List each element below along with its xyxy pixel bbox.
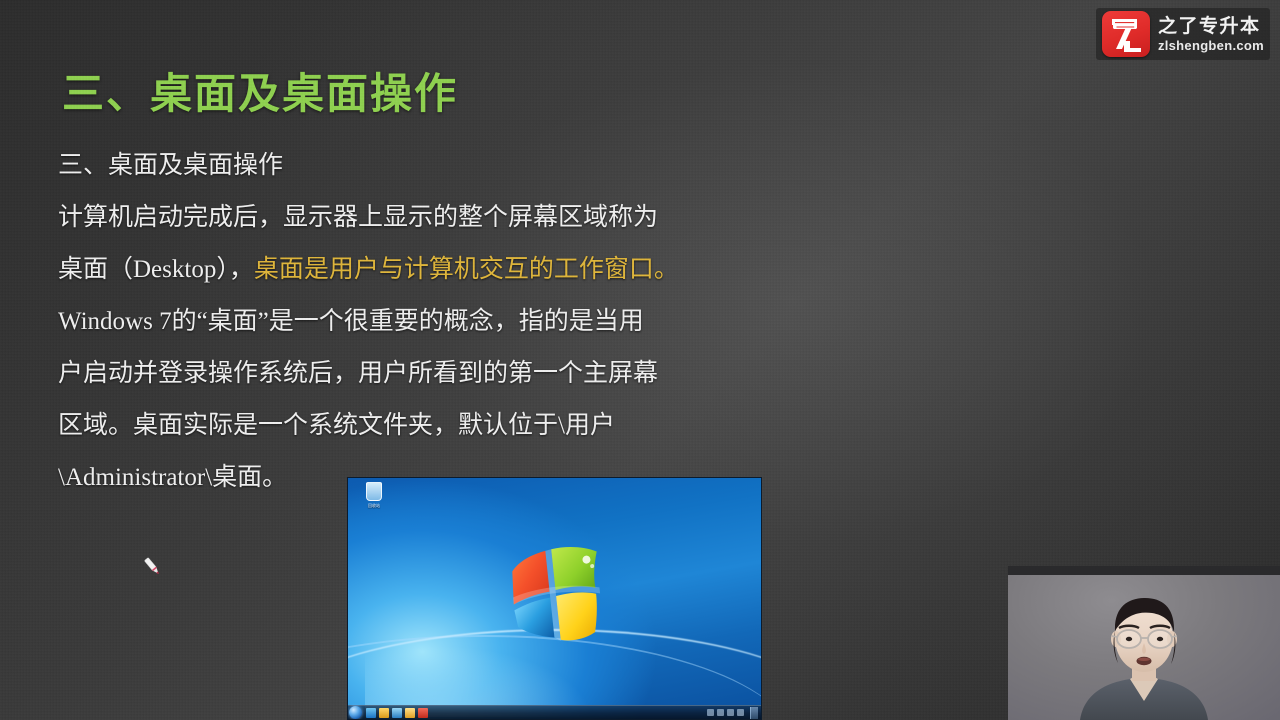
show-desktop-button[interactable]: [750, 707, 758, 719]
windows-logo-icon: [498, 540, 614, 651]
clock-icon[interactable]: [737, 709, 744, 716]
body-line-text: 三、桌面及桌面操作: [58, 152, 283, 179]
network-icon[interactable]: [707, 709, 714, 716]
brand-url: zlshengben.com: [1158, 39, 1264, 52]
body-line: 户启动并登录操作系统后，用户所看到的第一个主屏幕: [58, 348, 848, 400]
internet-explorer-icon[interactable]: [366, 708, 376, 718]
body-line-text: 计算机启动完成后，显示器上显示的整个屏幕区域称为: [58, 204, 658, 231]
start-orb-icon[interactable]: [349, 706, 362, 719]
taskbar-pinned-icons: [366, 708, 428, 718]
desktop-icon-recycle-bin[interactable]: 回收站: [354, 482, 394, 508]
body-line-text: 户启动并登录操作系统后，用户所看到的第一个主屏幕: [58, 360, 658, 387]
zl-logo-icon: [1102, 11, 1150, 57]
recycle-bin-label: 回收站: [354, 503, 394, 508]
zl-monogram-icon: [1102, 11, 1150, 57]
body-line-text: 桌面（Desktop），: [58, 256, 254, 283]
instructor-webcam-overlay: [1008, 566, 1280, 720]
presentation-slide: 之了专升本 zlshengben.com 三、桌面及桌面操作 三、桌面及桌面操作…: [0, 0, 1280, 720]
folder-icon[interactable]: [405, 708, 415, 718]
body-line: 桌面（Desktop），桌面是用户与计算机交互的工作窗口。: [58, 244, 848, 296]
windows-taskbar: [348, 705, 761, 719]
body-line-text: Windows 7的“桌面”是一个很重要的概念，指的是当用: [58, 308, 644, 335]
body-line: Windows 7的“桌面”是一个很重要的概念，指的是当用: [58, 296, 848, 348]
volume-icon[interactable]: [717, 709, 724, 716]
webcam-top-band: [1008, 566, 1280, 575]
action-center-icon[interactable]: [727, 709, 734, 716]
taskbar-system-tray: [707, 707, 758, 719]
body-line: 区域。桌面实际是一个系统文件夹，默认位于\用户: [58, 400, 848, 452]
instructor-figure: [1008, 575, 1280, 720]
media-player-icon[interactable]: [392, 708, 402, 718]
body-line: 计算机启动完成后，显示器上显示的整个屏幕区域称为: [58, 192, 848, 244]
body-line: 三、桌面及桌面操作: [58, 140, 848, 192]
body-line-highlight: 桌面是用户与计算机交互的工作窗口。: [254, 256, 679, 283]
body-line-text: 区域。桌面实际是一个系统文件夹，默认位于\用户: [58, 412, 615, 439]
slide-title: 三、桌面及桌面操作: [62, 60, 458, 121]
slide-body-text: 三、桌面及桌面操作 计算机启动完成后，显示器上显示的整个屏幕区域称为 桌面（De…: [58, 140, 848, 504]
brand-logo: 之了专升本 zlshengben.com: [1096, 8, 1270, 60]
pen-cursor-icon: [138, 552, 166, 580]
windows-explorer-icon[interactable]: [379, 708, 389, 718]
recycle-bin-icon: [366, 482, 382, 501]
brand-name-cn: 之了专升本: [1158, 17, 1264, 36]
logo-text-block: 之了专升本 zlshengben.com: [1158, 17, 1264, 52]
app-icon[interactable]: [418, 708, 428, 718]
windows7-desktop-screenshot: 回收站: [347, 477, 762, 720]
body-line-text: \Administrator\桌面。: [58, 464, 287, 491]
